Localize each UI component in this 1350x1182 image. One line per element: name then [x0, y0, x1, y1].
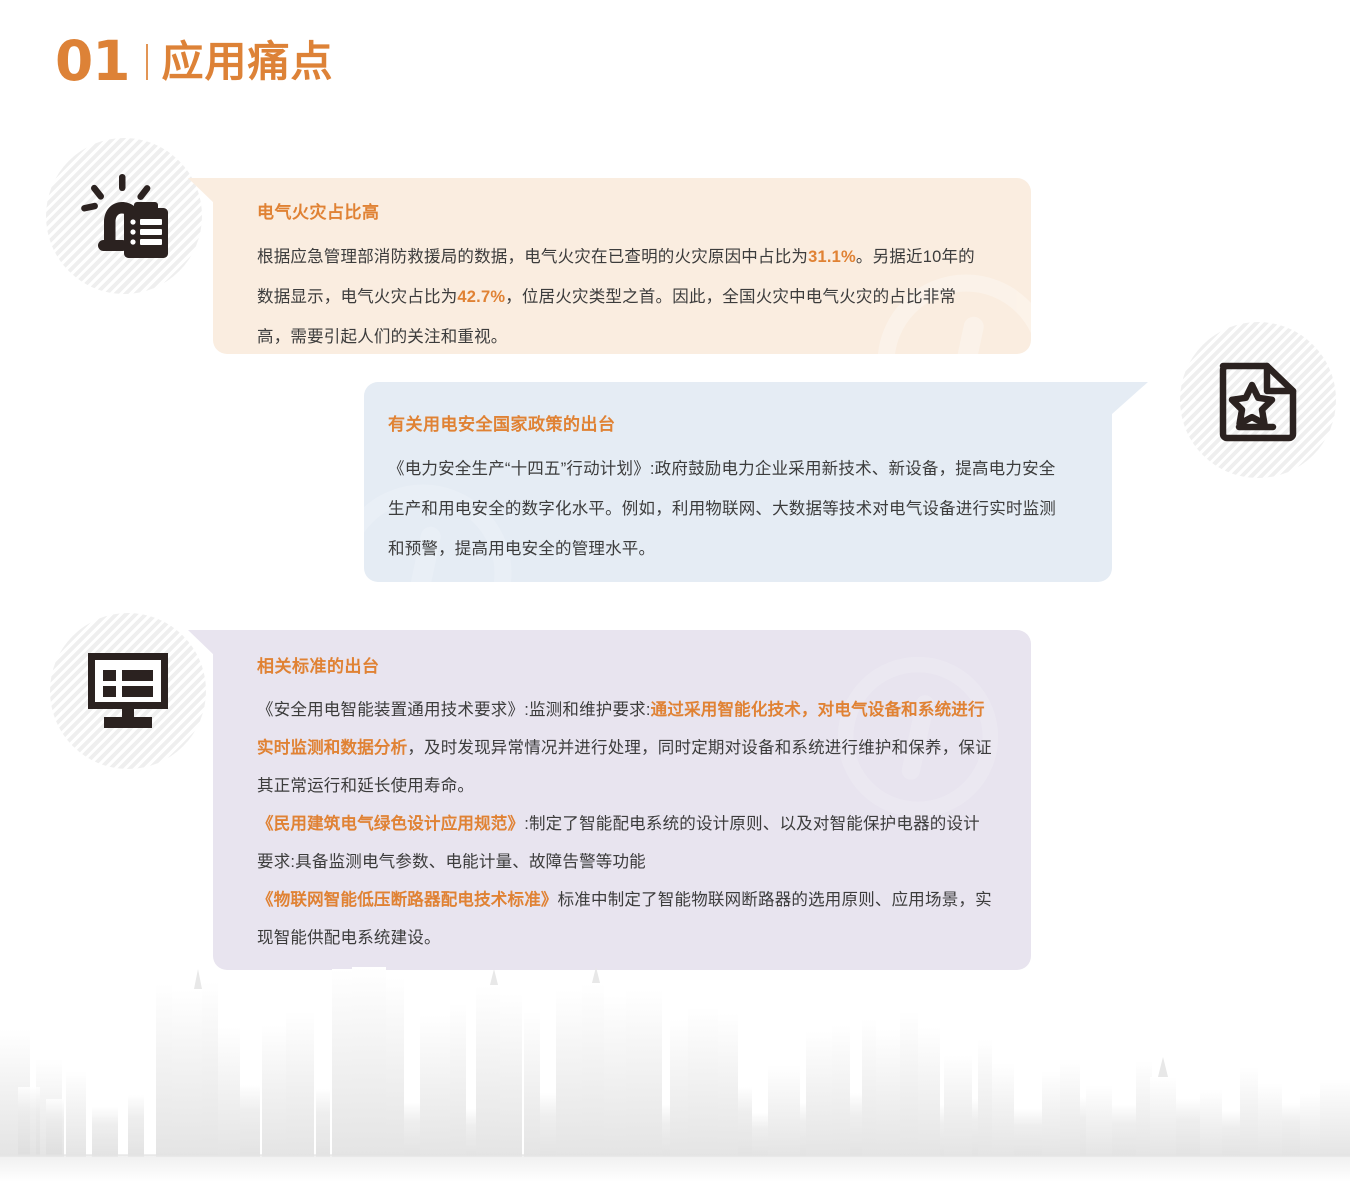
- highlighted-text: 31.1%: [808, 248, 856, 266]
- body-text: 根据应急管理部消防救援局的数据，电气火灾在已查明的火灾原因中占比为: [257, 248, 808, 266]
- bubble-3-tail: [188, 630, 215, 656]
- body-text: 《安全用电智能装置通用技术要求》:监测和维护要求:: [257, 701, 651, 719]
- alarm-clipboard-icon-badge: [46, 138, 202, 294]
- card-paragraph: 《物联网智能低压断路器配电技术标准》标准中制定了智能物联网断路器的选用原则、应用…: [257, 881, 995, 957]
- section-number: 01: [55, 34, 130, 89]
- monitor-list-icon-badge: [50, 613, 206, 769]
- page-title: 应用痛点: [162, 41, 334, 83]
- card-title: 相关标准的出台: [257, 652, 995, 677]
- certificate-star-document-icon-badge: [1180, 322, 1336, 478]
- monitor-list-icon: [84, 649, 172, 733]
- page-header: 01 应用痛点: [55, 34, 334, 89]
- card-related-standards: 相关标准的出台 《安全用电智能装置通用技术要求》:监测和维护要求:通过采用智能化…: [213, 630, 1031, 970]
- highlighted-text: 42.7%: [457, 288, 505, 306]
- highlighted-text: 《民用建筑电气绿色设计应用规范》: [257, 815, 524, 833]
- bubble-2-tail: [1112, 382, 1148, 414]
- card-body: 根据应急管理部消防救援局的数据，电气火灾在已查明的火灾原因中占比为31.1%。另…: [257, 237, 987, 354]
- header-divider: [146, 44, 148, 80]
- card-paragraph: 《电力安全生产“十四五”行动计划》:政府鼓励电力企业采用新技术、新设备，提高电力…: [388, 449, 1068, 569]
- city-skyline-svg: [0, 967, 1350, 1182]
- card-national-policy: 有关用电安全国家政策的出台 《电力安全生产“十四五”行动计划》:政府鼓励电力企业…: [364, 382, 1112, 582]
- city-skyline-silhouette: [0, 967, 1350, 1182]
- card-paragraph: 《安全用电智能装置通用技术要求》:监测和维护要求:通过采用智能化技术，对电气设备…: [257, 691, 995, 805]
- card-body: 《电力安全生产“十四五”行动计划》:政府鼓励电力企业采用新技术、新设备，提高电力…: [388, 449, 1068, 569]
- card-paragraph: 根据应急管理部消防救援局的数据，电气火灾在已查明的火灾原因中占比为31.1%。另…: [257, 237, 987, 354]
- highlighted-text: 《物联网智能低压断路器配电技术标准》: [257, 891, 558, 909]
- card-title: 电气火灾占比高: [257, 198, 987, 223]
- card-paragraph: 《民用建筑电气绿色设计应用规范》:制定了智能配电系统的设计原则、以及对智能保护电…: [257, 805, 995, 881]
- card-electrical-fire-ratio: 电气火灾占比高 根据应急管理部消防救援局的数据，电气火灾在已查明的火灾原因中占比…: [213, 178, 1031, 354]
- certificate-star-document-icon: [1217, 357, 1299, 443]
- card-body: 《安全用电智能装置通用技术要求》:监测和维护要求:通过采用智能化技术，对电气设备…: [257, 691, 995, 957]
- card-title: 有关用电安全国家政策的出台: [388, 410, 1068, 435]
- body-text: 《电力安全生产“十四五”行动计划》:政府鼓励电力企业采用新技术、新设备，提高电力…: [388, 460, 1056, 558]
- body-text: 。: [856, 248, 873, 266]
- bubble-1-tail: [188, 178, 215, 204]
- alarm-clipboard-icon: [78, 170, 170, 262]
